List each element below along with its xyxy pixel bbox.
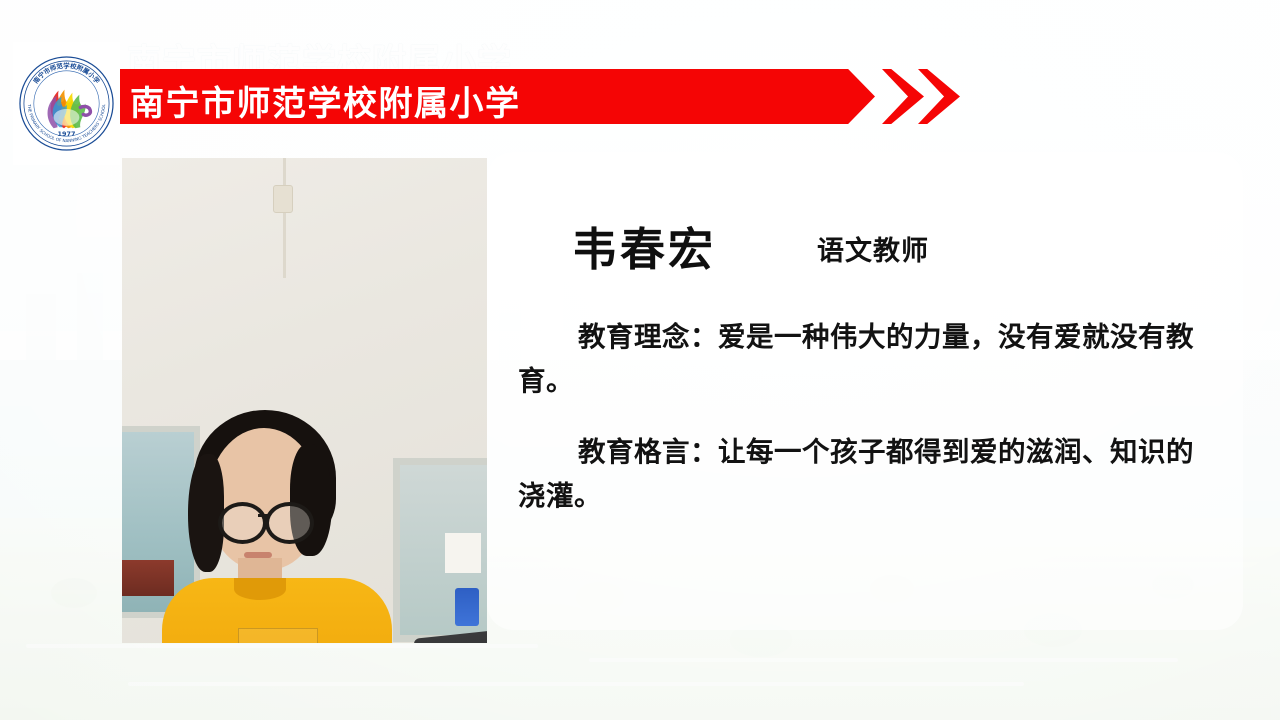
photo-wall-note — [445, 533, 481, 573]
photo-hair-left — [188, 454, 224, 572]
school-title: 南宁市师范学校附属小学 — [130, 76, 521, 125]
photo-cord — [283, 158, 286, 278]
photo-socket — [273, 185, 293, 213]
photo-red-shelf — [122, 560, 174, 596]
photo-glasses-left — [218, 502, 267, 544]
teacher-role: 语文教师 — [817, 229, 929, 268]
svg-text:1977: 1977 — [58, 130, 76, 138]
photo-glasses-bridge — [258, 514, 268, 517]
teacher-name: 韦春宏 — [572, 213, 716, 278]
slide-root: 南宁市师范学校附属小学 南宁市师范学校附属小学 — [0, 0, 1280, 720]
photo-blue-bottle — [455, 588, 479, 626]
philosophy-paragraph: 教育理念：爱是一种伟大的力量，没有爱就没有教育。 — [518, 315, 1208, 403]
teacher-photo — [122, 158, 487, 643]
photo-glasses-right — [265, 502, 314, 544]
photo-shirt-collar — [234, 578, 286, 600]
school-logo: 南宁市师范学校附属小学 THE PRIMARY SCHOOL OF NANNIN… — [13, 42, 120, 165]
photo-shirt-print — [238, 628, 318, 643]
motto-paragraph: 教育格言：让每一个孩子都得到爱的滋润、知识的浇灌。 — [518, 430, 1208, 518]
school-emblem-icon: 南宁市师范学校附属小学 THE PRIMARY SCHOOL OF NANNIN… — [17, 54, 116, 153]
